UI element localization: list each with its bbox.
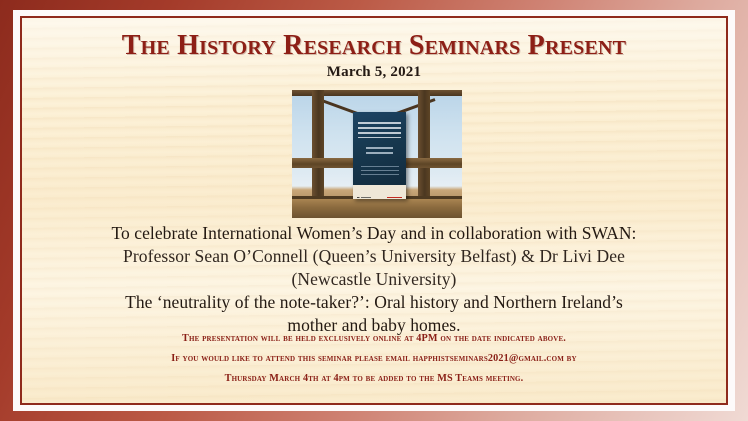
report-cover-title-text: [358, 122, 401, 138]
page-title: The History Research Seminars Present: [22, 31, 726, 60]
seminar-date: March 5, 2021: [22, 64, 726, 81]
university-logo-icon: [357, 197, 371, 198]
fineprint-line-2: If you would like to attend this seminar…: [52, 349, 696, 369]
window-mullion-left: [312, 90, 324, 200]
seminar-details: To celebrate International Women’s Day a…: [48, 222, 700, 336]
collaboration-line: To celebrate International Women’s Day a…: [48, 222, 700, 245]
window-sill: [292, 199, 462, 218]
report-cover-body-text: [361, 166, 399, 176]
fineprint-line-3: Thursday March 4th at 4pm to be added to…: [52, 369, 696, 389]
talk-title-line-1: The ‘neutrality of the note-taker?’: Ora…: [48, 291, 700, 314]
seminar-poster: The History Research Seminars Present Ma…: [0, 0, 748, 421]
report-cover-footer: [353, 185, 406, 199]
fineprint-line-1: The presentation will be held exclusivel…: [52, 329, 696, 349]
red-logo-icon: [387, 197, 402, 198]
speaker-affiliation-line: (Newcastle University): [48, 268, 700, 291]
report-photo: [292, 90, 462, 218]
poster-page: The History Research Seminars Present Ma…: [22, 18, 726, 403]
attendance-instructions: The presentation will be held exclusivel…: [52, 329, 696, 389]
window-mullion-right: [418, 90, 430, 200]
speakers-line: Professor Sean O’Connell (Queen’s Univer…: [48, 245, 700, 268]
window-scene: [292, 90, 462, 218]
report-cover: [353, 112, 406, 199]
report-cover-subtitle-text: [366, 147, 393, 155]
